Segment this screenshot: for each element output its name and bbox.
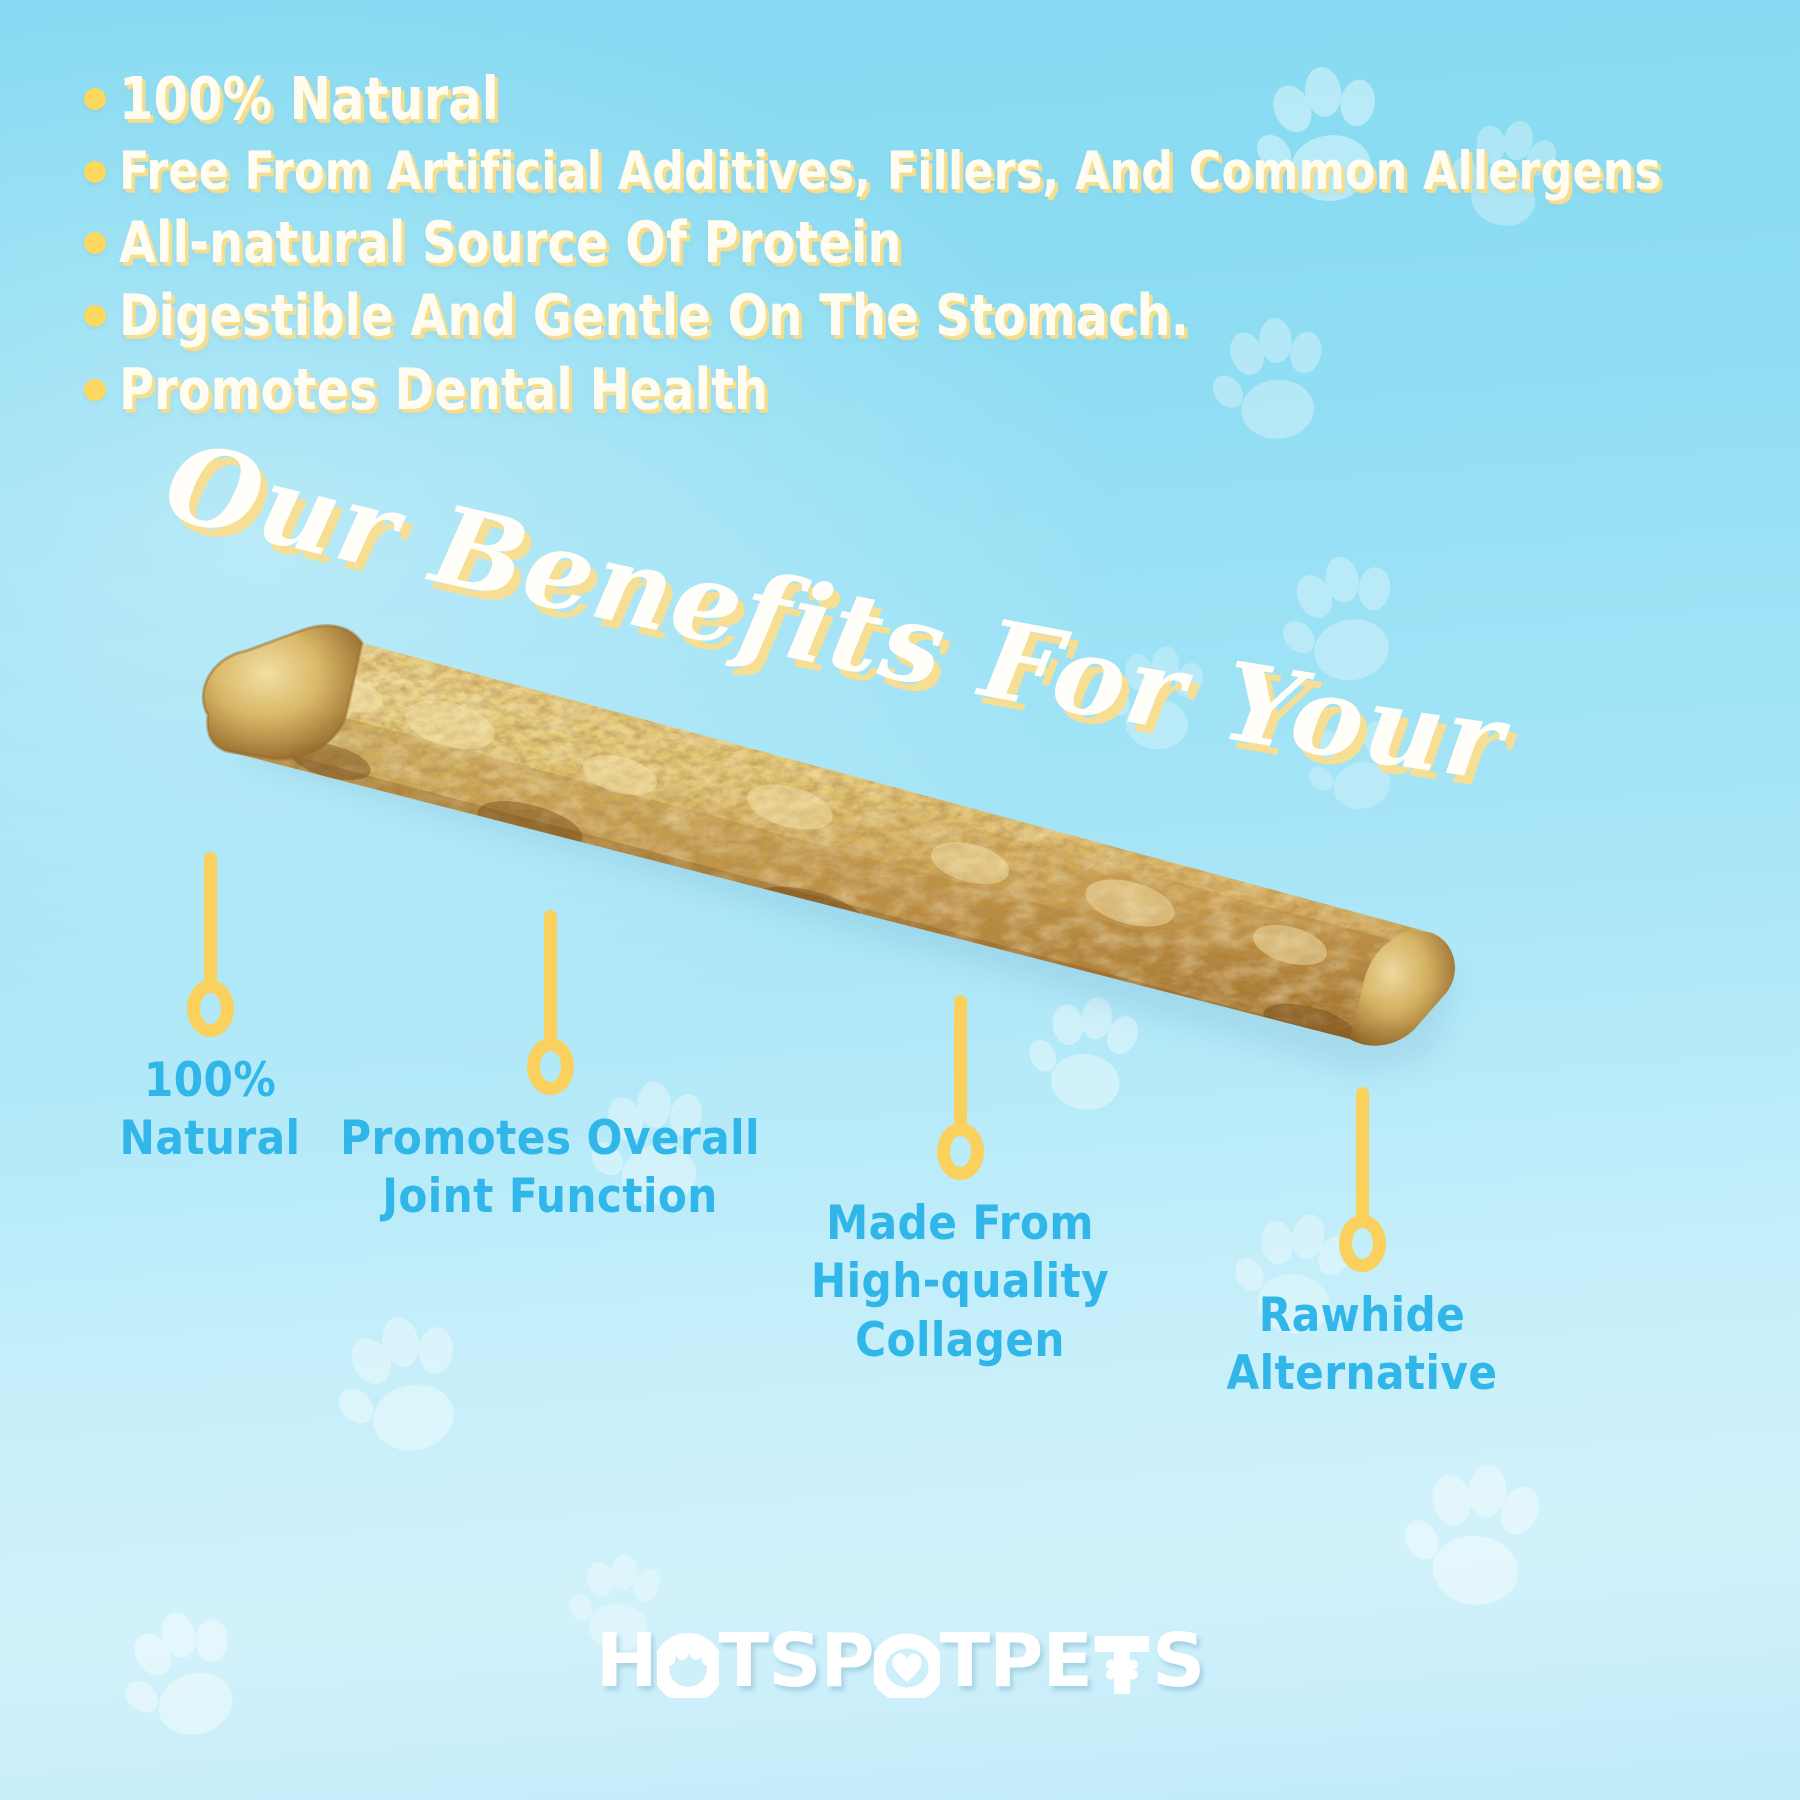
product-image (150, 595, 1490, 1105)
list-item: Promotes Dental Health (84, 360, 1764, 420)
list-item: 100% Natural (84, 68, 1764, 131)
callout-ring-icon (527, 1038, 574, 1095)
paw-watermark-icon (1094, 622, 1227, 763)
callout-stem (1356, 1087, 1369, 1222)
callout-label: Made From High-quality Collagen (770, 1195, 1150, 1370)
logo-letter-o-heart (874, 1624, 940, 1698)
logo-text-part4: S (1152, 1618, 1204, 1704)
logo-text-part3: TPE (940, 1618, 1092, 1704)
bullet-label: All-natural Source Of Protein (119, 213, 902, 273)
logo-text-part1: H (596, 1618, 657, 1704)
bullet-label: Free From Artificial Additives, Fillers,… (119, 144, 1661, 200)
paw-watermark-icon (1389, 1431, 1571, 1623)
bullet-label: Digestible And Gentle On The Stomach. (119, 286, 1189, 346)
paw-watermark-icon (1287, 687, 1422, 828)
bullet-dot-icon (84, 305, 106, 327)
bullet-dot-icon (84, 88, 106, 110)
callout-label: Promotes Overall Joint Function (335, 1110, 765, 1227)
paw-print-icon (659, 1602, 717, 1688)
callout-ring-icon (187, 980, 234, 1037)
list-item: Free From Artificial Additives, Fillers,… (84, 144, 1764, 200)
product-end-cap-right (1350, 931, 1455, 1045)
logo-text-part2: TSP (719, 1618, 874, 1704)
list-item: All-natural Source Of Protein (84, 213, 1764, 273)
brand-logo[interactable]: H (0, 1618, 1800, 1704)
bullet-label: 100% Natural (119, 68, 499, 131)
callout-label: 100% Natural (90, 1052, 330, 1169)
page-title: Our Benefits For Your Dog's Health! Our … (140, 455, 1660, 815)
benefits-bullet-list: 100% Natural Free From Artificial Additi… (84, 68, 1764, 433)
heart-icon (892, 1654, 921, 1682)
product-shadow (230, 681, 1460, 1073)
bullet-dot-icon (84, 379, 106, 401)
logo-letter-o-paw (657, 1624, 719, 1698)
list-item: Digestible And Gentle On The Stomach. (84, 286, 1764, 346)
product-body (150, 595, 1490, 1105)
product-end-cap-left (203, 626, 362, 759)
bullet-label: Promotes Dental Health (119, 360, 768, 420)
callout-label: Rawhide Alternative (1162, 1287, 1562, 1404)
infographic-canvas: 100% Natural Free From Artificial Additi… (0, 0, 1800, 1800)
callout-ring-icon (937, 1123, 984, 1180)
logo-letter-t-bone (1092, 1624, 1152, 1698)
paw-watermark-icon (1261, 524, 1430, 701)
paw-watermark-icon (311, 1279, 498, 1475)
callout-ring-icon (1339, 1215, 1386, 1272)
bullet-dot-icon (84, 232, 106, 254)
bullet-dot-icon (84, 161, 106, 183)
callout-stem (954, 995, 967, 1130)
paw-watermark-icon (1015, 968, 1165, 1127)
callout-stem (204, 852, 217, 987)
callout-stem (544, 910, 557, 1045)
